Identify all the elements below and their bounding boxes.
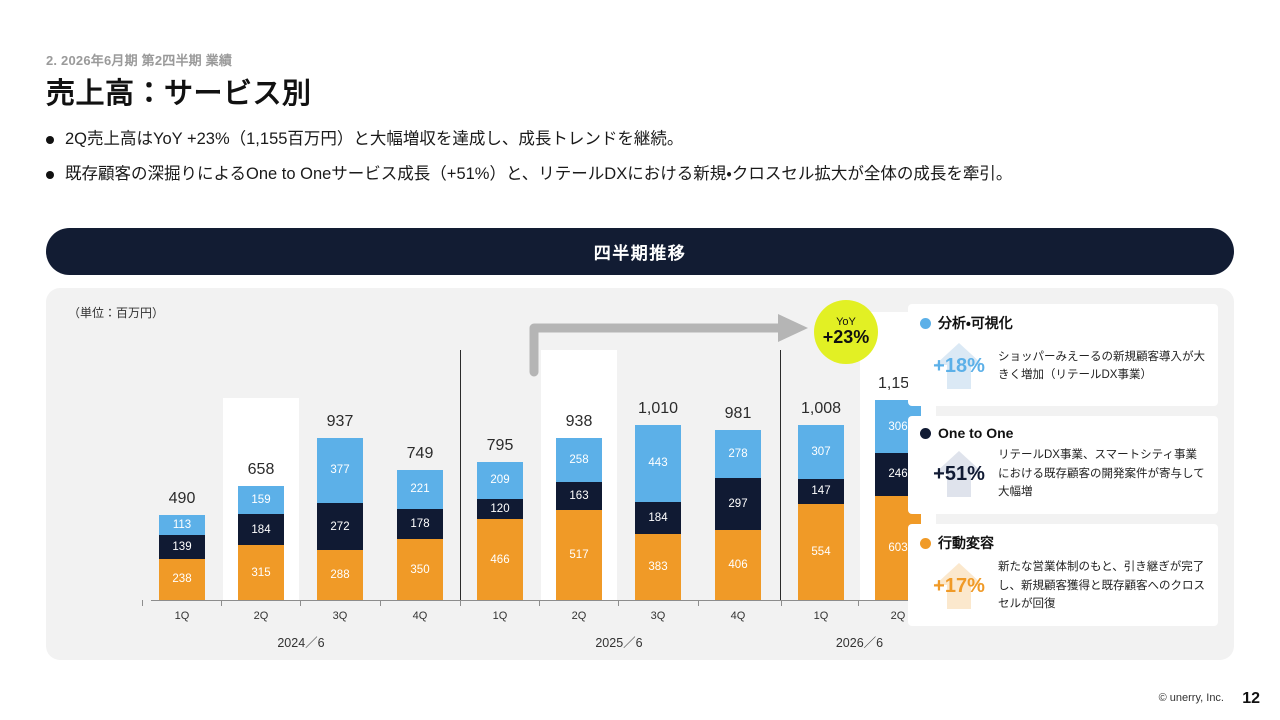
service-card-header: 行動変容 (920, 533, 1206, 553)
bar-segment: 159 (238, 486, 284, 514)
axis-tick (460, 600, 461, 606)
service-card-title: One to One (938, 425, 1013, 441)
growth-percentage: +17% (933, 575, 985, 598)
bar-total-label: 1,010 (612, 400, 704, 418)
growth-percentage: +18% (933, 355, 985, 378)
bar-total-label: 795 (454, 437, 546, 455)
bullet-text: 2Q売上高はYoY +23%（1,155百万円）と大幅増収を達成し、成長トレンド… (65, 128, 683, 152)
slide-eyebrow: 2. 2026年6月期 第2四半期 業績 (46, 50, 232, 69)
axis-quarter-label: 4Q (715, 610, 761, 622)
bullet-dot-icon (46, 171, 54, 179)
bar-segment: 307 (798, 425, 844, 478)
bar-stack: 377272288 (317, 438, 363, 600)
service-card-body: +17%新たな営業体制のもと、引き継ぎが完了し、新規顧客獲得と既存顧客へのクロス… (920, 557, 1206, 615)
bar-segment: 120 (477, 499, 523, 520)
bar-segment: 517 (556, 510, 602, 600)
bar-stack: 221178350 (397, 470, 443, 600)
legend-dot-icon (920, 318, 931, 329)
bar-segment: 163 (556, 482, 602, 510)
axis-quarter-label: 2Q (556, 610, 602, 622)
bar-segment: 258 (556, 438, 602, 483)
bar-segment: 350 (397, 539, 443, 600)
chart-baseline (151, 600, 951, 601)
axis-quarter-label: 1Q (159, 610, 205, 622)
page-title: 売上高：サービス別 (46, 70, 312, 112)
axis-tick (380, 600, 381, 606)
growth-metric: +17% (920, 557, 998, 615)
chart-panel: （単位：百万円） 1131392384901Q1591843156582Q377… (46, 288, 1234, 660)
service-card-description: リテールDX事業、スマートシティ事業における既存顧客の開発案件が寄与して大幅増 (998, 446, 1206, 501)
bar-segment: 178 (397, 509, 443, 540)
axis-tick (539, 600, 540, 606)
bar-segment: 184 (635, 502, 681, 534)
service-card-title: 分析・可視化 (938, 313, 1013, 333)
axis-fiscal-year-label: 2024／6 (241, 632, 361, 651)
list-item: 既存顧客の深掘りによるOne to Oneサービス成長（+51%）と、リテールD… (46, 163, 1246, 187)
bar-segment: 315 (238, 545, 284, 600)
bar-segment: 272 (317, 503, 363, 550)
bar-stack: 159184315 (238, 486, 284, 600)
list-item: 2Q売上高はYoY +23%（1,155百万円）と大幅増収を達成し、成長トレンド… (46, 128, 1246, 152)
axis-quarter-label: 1Q (798, 610, 844, 622)
service-card-description: ショッパーみえーるの新規顧客導入が大きく増加（リテールDX事業） (998, 348, 1206, 385)
bar-stack: 258163517 (556, 438, 602, 600)
bar-segment: 147 (798, 479, 844, 504)
bar-stack: 209120466 (477, 462, 523, 600)
bar-segment: 443 (635, 425, 681, 502)
growth-metric: +18% (920, 337, 998, 395)
fiscal-year-divider (780, 350, 781, 600)
service-card-body: +51%リテールDX事業、スマートシティ事業における既存顧客の開発案件が寄与して… (920, 445, 1206, 503)
legend-dot-icon (920, 538, 931, 549)
bar-segment: 184 (238, 514, 284, 546)
axis-tick (781, 600, 782, 606)
service-card-body: +18%ショッパーみえーるの新規顧客導入が大きく増加（リテールDX事業） (920, 337, 1206, 395)
bar-total-label: 937 (294, 413, 386, 431)
service-breakdown-cards: 分析・可視化+18%ショッパーみえーるの新規顧客導入が大きく増加（リテールDX事… (908, 304, 1218, 636)
bar-segment: 383 (635, 534, 681, 600)
bar-segment: 278 (715, 430, 761, 478)
service-card-header: 分析・可視化 (920, 313, 1206, 333)
bar-stack: 278297406 (715, 430, 761, 600)
axis-tick (300, 600, 301, 606)
bar-total-label: 981 (692, 405, 784, 423)
footer-copyright: © unerry, Inc. (1159, 692, 1224, 704)
bar-stack: 443184383 (635, 425, 681, 600)
bullet-dot-icon (46, 136, 54, 144)
bar-segment: 113 (159, 515, 205, 535)
axis-quarter-label: 1Q (477, 610, 523, 622)
service-card-title: 行動変容 (938, 533, 994, 553)
quarterly-stacked-bar-chart: 1131392384901Q1591843156582Q377272288937… (66, 298, 916, 648)
axis-tick (221, 600, 222, 606)
growth-metric: +51% (920, 445, 998, 503)
bullet-list: 2Q売上高はYoY +23%（1,155百万円）と大幅増収を達成し、成長トレンド… (46, 128, 1246, 198)
section-banner: 四半期推移 (46, 228, 1234, 275)
service-card: 分析・可視化+18%ショッパーみえーるの新規顧客導入が大きく増加（リテールDX事… (908, 304, 1218, 406)
axis-tick (698, 600, 699, 606)
bar-segment: 139 (159, 535, 205, 559)
axis-tick (858, 600, 859, 606)
bar-segment: 554 (798, 504, 844, 600)
growth-percentage: +51% (933, 463, 985, 486)
footer-page-number: 12 (1242, 690, 1260, 708)
legend-dot-icon (920, 428, 931, 439)
bar-segment: 466 (477, 519, 523, 600)
bar-total-label: 749 (374, 445, 466, 463)
axis-tick (618, 600, 619, 606)
bullet-text: 既存顧客の深掘りによるOne to Oneサービス成長（+51%）と、リテールD… (65, 163, 1012, 187)
bar-segment: 297 (715, 478, 761, 529)
axis-quarter-label: 2Q (238, 610, 284, 622)
bar-segment: 238 (159, 559, 205, 600)
bar-stack: 113139238 (159, 515, 205, 600)
fiscal-year-divider (460, 350, 461, 600)
axis-quarter-label: 3Q (635, 610, 681, 622)
bar-segment: 406 (715, 530, 761, 600)
bar-segment: 209 (477, 462, 523, 498)
axis-quarter-label: 4Q (397, 610, 443, 622)
service-card: One to One+51%リテールDX事業、スマートシティ事業における既存顧客… (908, 416, 1218, 514)
axis-fiscal-year-label: 2026／6 (800, 632, 920, 651)
axis-fiscal-year-label: 2025／6 (559, 632, 679, 651)
section-banner-label: 四半期推移 (594, 239, 687, 264)
axis-tick (142, 600, 143, 606)
service-card: 行動変容+17%新たな営業体制のもと、引き継ぎが完了し、新規顧客獲得と既存顧客へ… (908, 524, 1218, 626)
bar-total-label: 1,008 (775, 400, 867, 418)
bar-segment: 221 (397, 470, 443, 508)
bar-stack: 307147554 (798, 425, 844, 600)
service-card-description: 新たな営業体制のもと、引き継ぎが完了し、新規顧客獲得と既存顧客へのクロスセルが回… (998, 558, 1206, 613)
bar-segment: 377 (317, 438, 363, 503)
service-card-header: One to One (920, 425, 1206, 441)
yoy-badge-value: +23% (823, 328, 870, 347)
yoy-badge: YoY +23% (814, 300, 878, 364)
axis-quarter-label: 3Q (317, 610, 363, 622)
bar-total-label: 658 (215, 461, 307, 479)
bar-total-label: 490 (136, 490, 228, 508)
bar-segment: 288 (317, 550, 363, 600)
